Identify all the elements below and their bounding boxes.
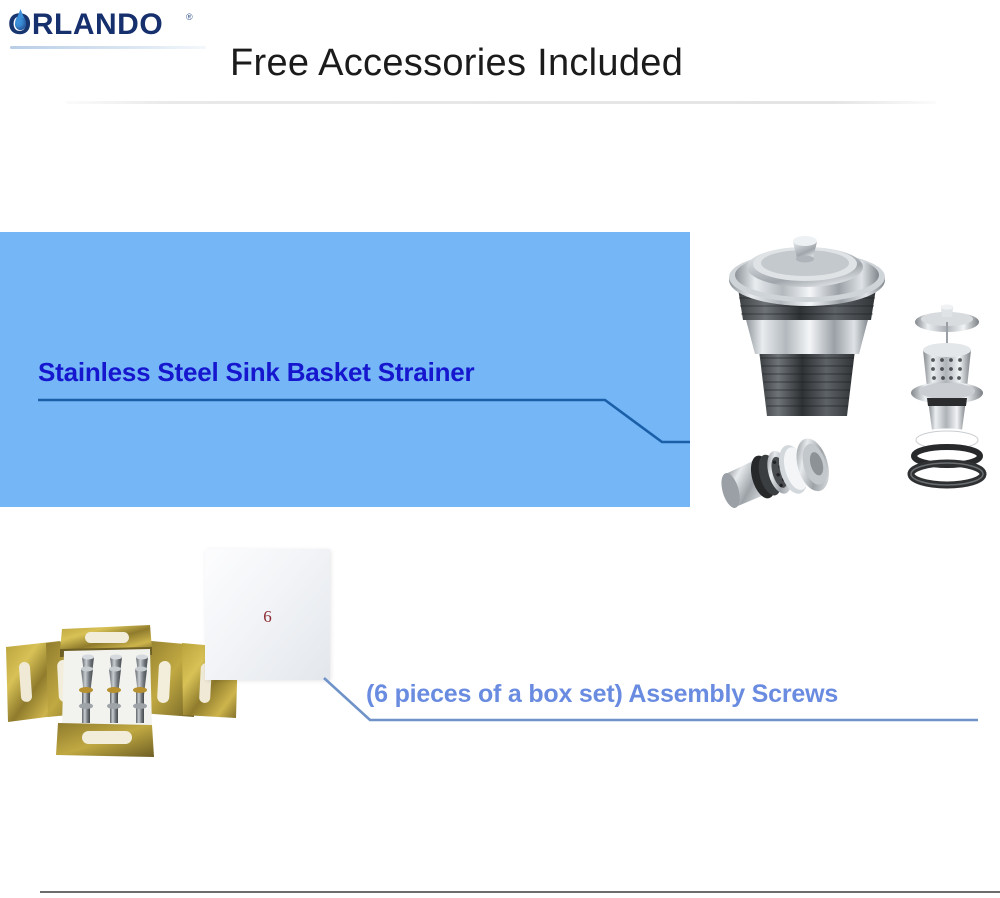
strainer-callout-label: Stainless Steel Sink Basket Strainer bbox=[38, 357, 474, 388]
sink-basket-strainer-exploded-photo bbox=[895, 300, 1000, 490]
page-title: Free Accessories Included bbox=[230, 42, 683, 85]
header-divider bbox=[66, 101, 936, 104]
brand-rest-letters: RLANDO bbox=[32, 8, 163, 41]
accessories-page: ORLANDO ® Free Accessories Included Stai… bbox=[0, 0, 1000, 898]
registered-trademark-icon: ® bbox=[186, 12, 193, 22]
brand-wordmark: ORLANDO bbox=[8, 8, 163, 42]
sink-basket-strainer-assembled-photo bbox=[697, 220, 917, 430]
footer-divider bbox=[40, 891, 1000, 893]
brand-logo: ORLANDO ® bbox=[8, 8, 208, 48]
sink-basket-strainer-angled-photo bbox=[718, 425, 858, 520]
brand-underline bbox=[10, 46, 206, 49]
screws-callout-label: (6 pieces of a box set) Assembly Screws bbox=[366, 680, 838, 709]
water-drop-icon bbox=[15, 15, 26, 30]
screw-box-number: 6 bbox=[205, 607, 330, 627]
screw-box-photo: 6 bbox=[205, 549, 330, 680]
